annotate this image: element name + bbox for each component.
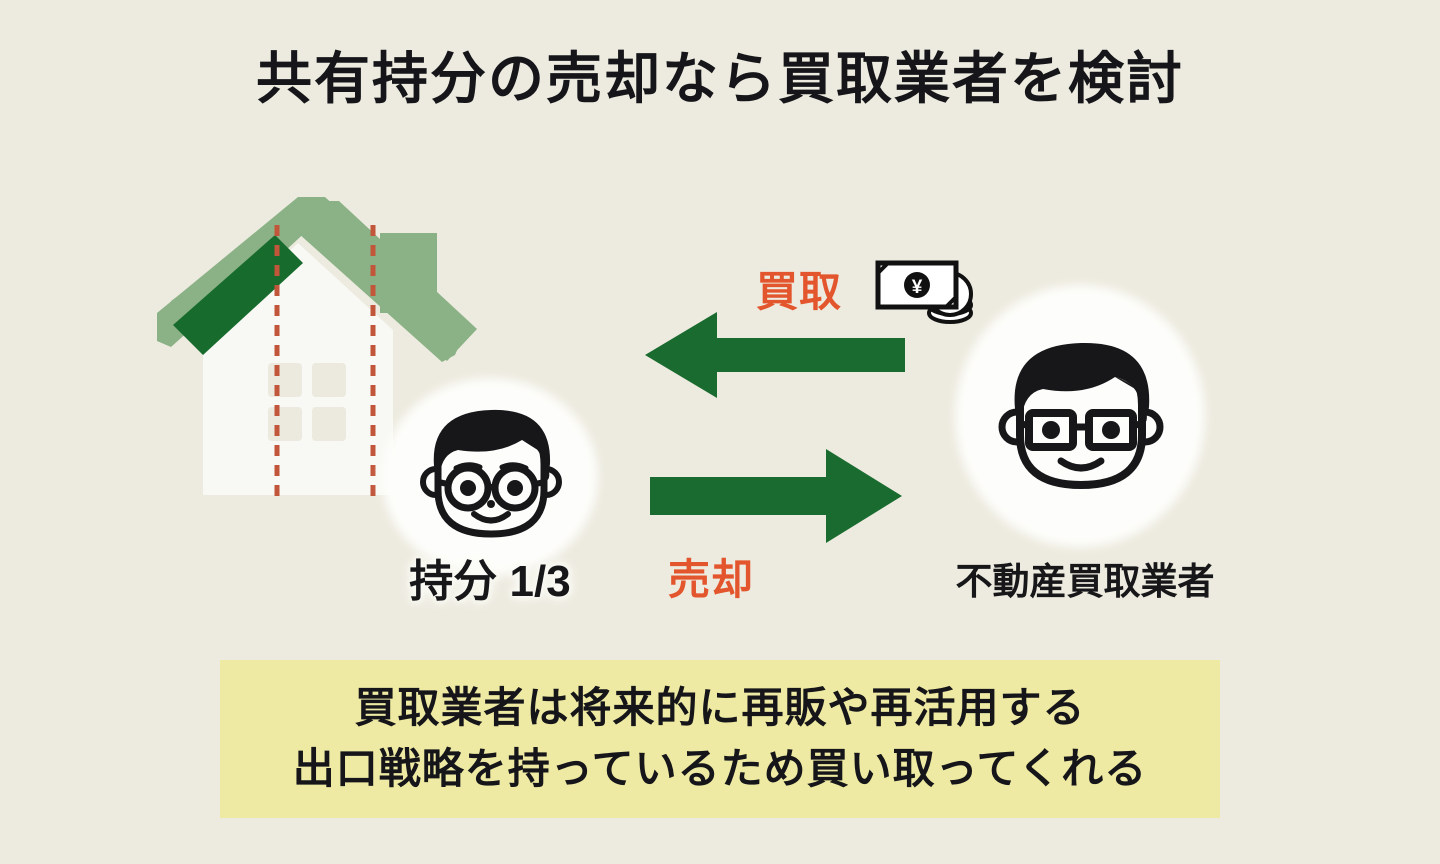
person-left-caption: 持分 1/3 xyxy=(370,545,610,609)
svg-text:¥: ¥ xyxy=(912,277,923,298)
banknote: ¥ xyxy=(878,263,956,307)
person-with-square-glasses-icon xyxy=(997,325,1165,509)
arrow-right-svg xyxy=(650,447,902,545)
arrow-bottom-label: 売却 xyxy=(668,546,754,607)
callout-line-2: 出口戦略を持っているため買い取ってくれる xyxy=(293,739,1148,800)
infographic-canvas: 共有持分の売却なら買取業者を検討 xyxy=(0,0,1440,864)
arrow-left-svg xyxy=(645,310,905,400)
callout-box: 買取業者は将来的に再販や再活用する 出口戦略を持っているため買い取ってくれる xyxy=(220,660,1220,818)
callout-line-1: 買取業者は将来的に再販や再活用する xyxy=(354,678,1085,739)
window-pane-bottom-left xyxy=(268,407,302,441)
arrow-left-icon xyxy=(645,310,905,400)
arrow-right-icon xyxy=(650,447,902,545)
window-pane-top-right xyxy=(312,363,346,397)
person-right-caption: 不動産買取業者 xyxy=(900,551,1270,605)
person-real-estate-buyer xyxy=(955,285,1205,547)
person-with-round-glasses-icon xyxy=(418,394,564,554)
window-pane-bottom-right xyxy=(312,407,346,441)
window-pane-top-left xyxy=(268,363,302,397)
arrow-top-label: 買取 xyxy=(756,258,842,319)
page-title: 共有持分の売却なら買取業者を検討 xyxy=(0,47,1440,111)
